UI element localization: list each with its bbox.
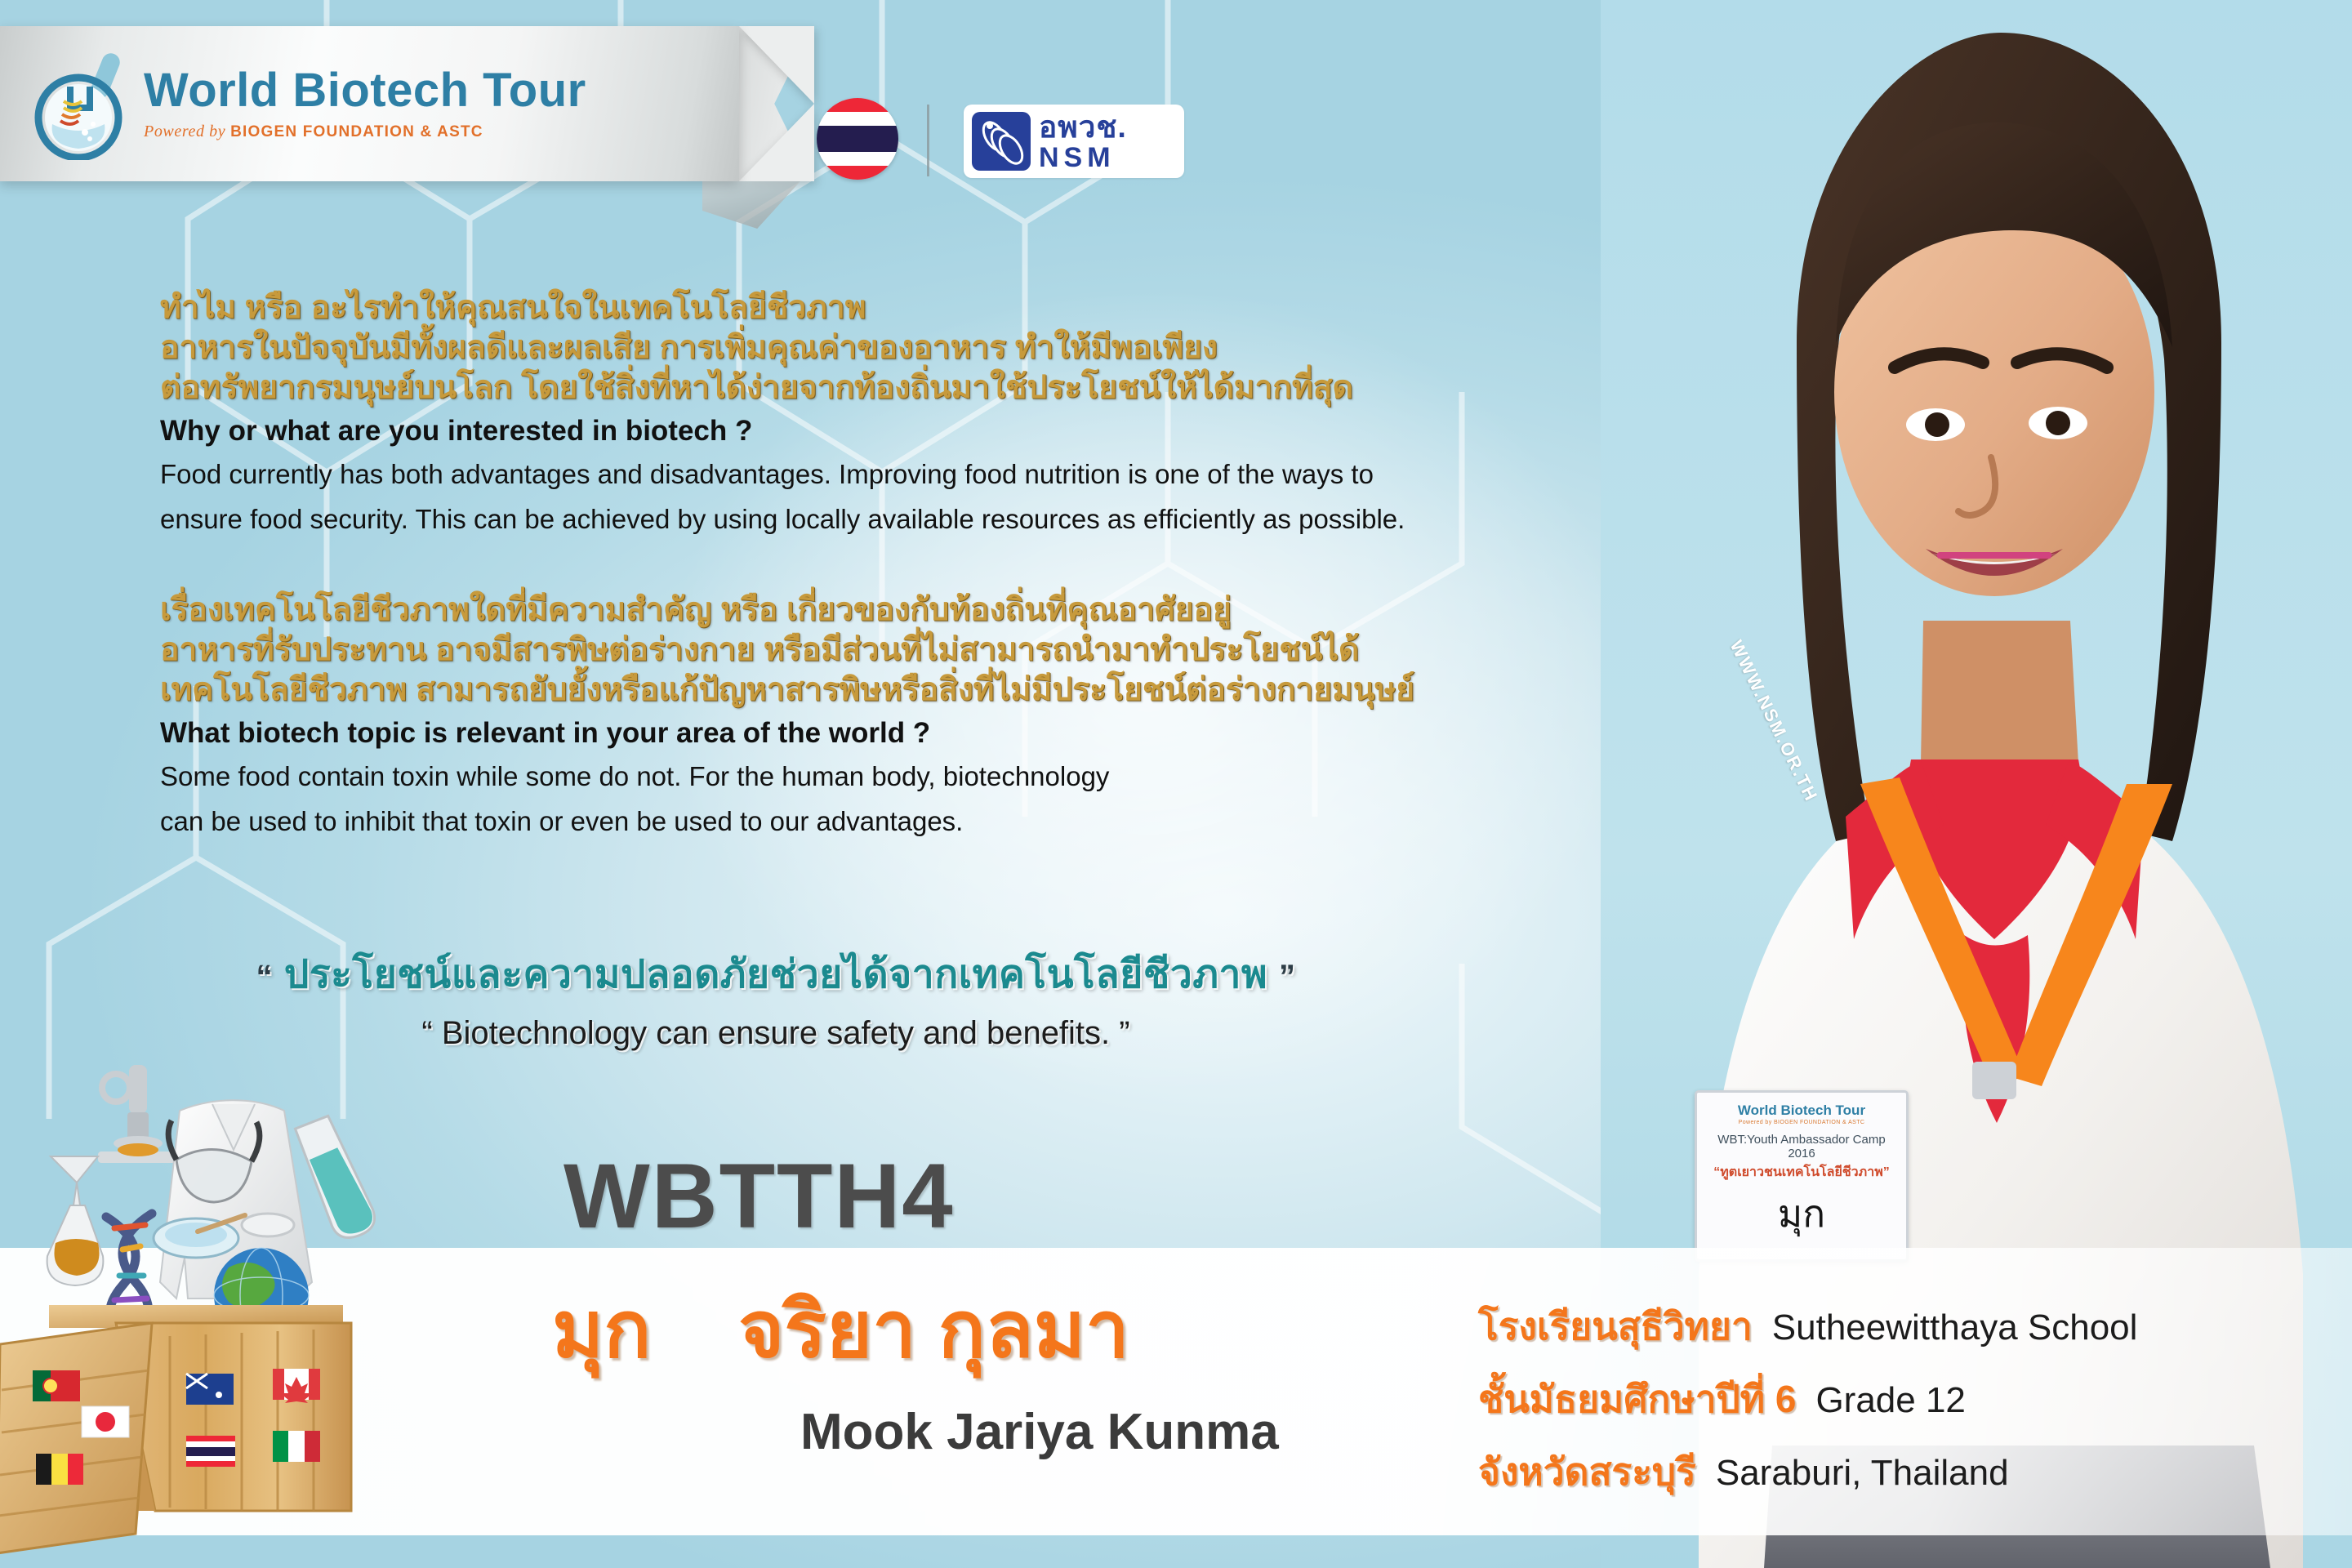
qa2-thai-answer-line-2: เทคโนโลยีชีวภาพ สามารถยับยั้งหรือแก้ปัญห…	[160, 670, 1589, 710]
flask-icon	[47, 1156, 104, 1285]
qa1-en-question: Why or what are you interested in biotec…	[160, 412, 1589, 450]
quote-english-text: “ Biotechnology can ensure safety and be…	[0, 1015, 1552, 1052]
badge-logo-subtitle: Powered by BIOGEN FOUNDATION & ASTC	[1704, 1120, 1900, 1125]
flag-canada	[273, 1369, 320, 1403]
qa2-en-answer-line-1: Some food contain toxin while some do no…	[160, 755, 1589, 797]
microscope-icon	[98, 1065, 188, 1163]
flag-thailand	[186, 1436, 235, 1467]
qa1-en-answer-line-2: ensure food security. This can be achiev…	[160, 498, 1589, 540]
province-thai: จังหวัดสระบุรี	[1478, 1442, 1696, 1502]
crate-lid-icon	[0, 1323, 152, 1553]
grade-thai: ชั้นมัธยมศึกษาปีที่ 6	[1478, 1370, 1796, 1429]
qa1-thai-question: ทำไม หรือ อะไรทำให้คุณสนใจในเทคโนโลยีชีว…	[160, 287, 1589, 327]
qa1-en-answer-line-1: Food currently has both advantages and d…	[160, 453, 1589, 495]
qa1-thai-answer-line-2: ต่อทรัพยากรมนุษย์บนโลก โดยใช้สิ่งที่หาได…	[160, 367, 1589, 408]
province-english: Saraburi, Thailand	[1716, 1453, 2009, 1494]
flag-japan	[82, 1406, 129, 1437]
nsm-latin-abbr: NSM	[1039, 144, 1127, 171]
qa-block-1: ทำไม หรือ อะไรทำให้คุณสนใจในเทคโนโลยีชีว…	[160, 287, 1589, 540]
school-row: โรงเรียนสุธีวิทยา Sutheewitthaya School	[1478, 1297, 2137, 1356]
participant-nickname-thai: มุก	[552, 1286, 651, 1374]
flag-belgium	[36, 1454, 83, 1485]
brand-powered-prefix: Powered by	[144, 122, 225, 140]
province-row: จังหวัดสระบุรี Saraburi, Thailand	[1478, 1442, 2137, 1502]
badge-logo-title: World Biotech Tour	[1704, 1102, 1900, 1119]
ribbon-fold	[739, 26, 814, 181]
quote-open-mark: “	[256, 959, 274, 995]
qa-block-2: เรื่องเทคโนโลยีชีวภาพใดที่มีความสำคัญ หร…	[160, 590, 1589, 842]
quote-thai-text: ประโยชน์และความปลอดภัยช่วยได้จากเทคโนโลย…	[284, 953, 1267, 996]
logo-divider	[927, 105, 929, 176]
nsm-logo: อพวช. NSM	[964, 105, 1184, 178]
qa2-en-question: What biotech topic is relevant in your a…	[160, 715, 1589, 752]
badge-handwritten-name: มุก	[1704, 1184, 1900, 1244]
participant-code: WBTTH4	[563, 1143, 955, 1249]
participant-fullname-thai: จริยา กุลมา	[738, 1286, 1129, 1374]
qa2-thai-answer-line-1: อาหารที่รับประทาน อาจมีสารพิษต่อร่างกาย …	[160, 630, 1589, 670]
participant-name-thai: มุก จริยา กุลมา	[552, 1267, 1129, 1392]
biotech-flask-icon	[33, 47, 137, 160]
nsm-thai-abbr: อพวช.	[1039, 112, 1127, 142]
school-name-english: Sutheewitthaya School	[1772, 1307, 2138, 1348]
brand-powered-orgs: BIOGEN FOUNDATION & ASTC	[230, 123, 483, 140]
poster-canvas: WWW.NSM.OR.TH World Biotech Tour Powered…	[0, 0, 2352, 1568]
pull-quote: “ ประโยชน์และความปลอดภัยช่วยได้จากเทคโนโ…	[0, 943, 1552, 1052]
quote-close-mark: ”	[1279, 959, 1296, 995]
ribbon-fold-shadow	[702, 181, 800, 229]
grade-english: Grade 12	[1815, 1380, 1965, 1421]
id-badge: World Biotech Tour Powered by BIOGEN FOU…	[1695, 1090, 1909, 1262]
participant-name-english: Mook Jariya Kunma	[800, 1403, 1279, 1461]
biotech-crate-illustration	[0, 1053, 416, 1568]
flag-italy	[273, 1431, 320, 1462]
flag-portugal	[33, 1370, 80, 1401]
school-info: โรงเรียนสุธีวิทยา Sutheewitthaya School …	[1478, 1297, 2137, 1515]
thailand-flag-icon	[817, 98, 898, 180]
grade-row: ชั้นมัธยมศึกษาปีที่ 6 Grade 12	[1478, 1370, 2137, 1429]
qa1-thai-answer-line-1: อาหารในปัจจุบันมีทั้งผลดีและผลเสีย การเพ…	[160, 327, 1589, 367]
school-name-thai: โรงเรียนสุธีวิทยา	[1478, 1297, 1753, 1356]
badge-camp-thai: “ทูตเยาวชนเทคโนโลยีชีวภาพ”	[1704, 1162, 1900, 1183]
qa2-thai-question: เรื่องเทคโนโลยีชีวภาพใดที่มีความสำคัญ หร…	[160, 590, 1589, 630]
badge-camp-line: WBT:Youth Ambassador Camp 2016	[1704, 1133, 1900, 1160]
nsm-molecule-icon	[972, 112, 1031, 171]
brand-title: World Biotech Tour	[144, 67, 586, 114]
qa2-en-answer-line-2: can be used to inhibit that toxin or eve…	[160, 800, 1589, 842]
brand-ribbon: World Biotech Tour Powered by BIOGEN FOU…	[0, 26, 739, 181]
